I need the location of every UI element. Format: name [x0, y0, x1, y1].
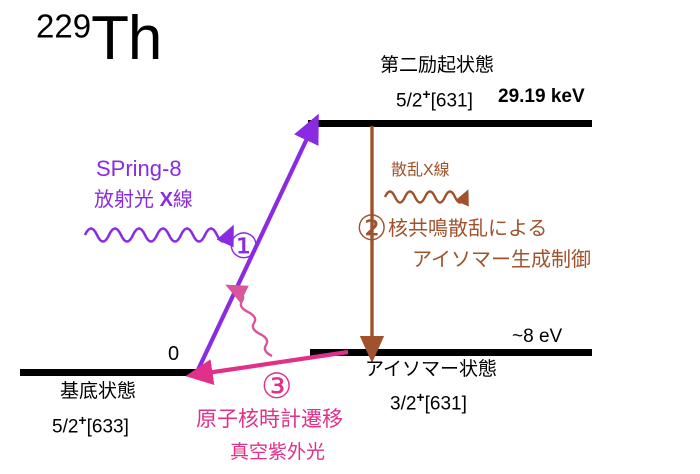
label-spring8-source: SPring-8	[96, 157, 182, 180]
label-scattered-xray: 散乱X線	[391, 163, 450, 180]
label-isomer-state-name: アイソマー状態	[365, 360, 497, 380]
parity-sign: +	[422, 86, 430, 102]
beam-label-suffix: 線	[173, 189, 193, 211]
isotope-mass-number: 229	[36, 7, 91, 44]
label-vuv-light-caption-line2: 真空紫外光	[230, 443, 325, 463]
energy-level-diagram: 229Th 第二励起状態 5/2+[631] 29.19 keV ~8 eV ア…	[0, 0, 700, 474]
step-number-3-circled: ③	[261, 370, 292, 405]
beam-label-x: X	[160, 189, 173, 211]
nilsson-label: [631]	[425, 393, 467, 414]
spin-value: 5/2	[396, 90, 422, 111]
label-second-excited-state-name: 第二励起状態	[380, 56, 494, 76]
nilsson-label: [633]	[87, 416, 129, 437]
step-number-1-circled: ①	[228, 230, 259, 265]
parity-sign: +	[416, 389, 424, 405]
label-clock-transition-caption-line1: 原子核時計遷移	[196, 409, 343, 431]
label-scattering-caption-line2: アイソマー生成制御	[412, 250, 591, 271]
wave-vuv-photon	[236, 290, 272, 356]
label-ground-state-name: 基底状態	[60, 382, 136, 402]
label-isomer-state-energy: ~8 eV	[512, 327, 562, 347]
wave-scattered-xray	[385, 192, 465, 203]
label-scattering-caption-line1: 核共鳴散乱による	[388, 219, 547, 240]
spin-value: 5/2	[52, 416, 78, 437]
label-ground-state-spin: 5/2+[633]	[52, 413, 129, 437]
label-isomer-state-spin: 3/2+[631]	[390, 390, 467, 414]
parity-sign: +	[78, 412, 86, 428]
label-second-excited-state-spin: 5/2+[631]	[396, 87, 473, 111]
isotope-label: 229Th	[36, 6, 161, 71]
label-synchrotron-xray: 放射光 X線	[94, 190, 193, 211]
isotope-element-symbol: Th	[91, 4, 161, 73]
nilsson-label: [631]	[431, 90, 473, 111]
beam-label-prefix: 放射光	[94, 189, 160, 211]
wave-incident-xray	[85, 229, 229, 242]
spin-value: 3/2	[390, 393, 416, 414]
step-number-2-circled: ②	[356, 212, 387, 247]
label-second-excited-state-energy: 29.19 keV	[498, 87, 585, 107]
label-ground-state-energy: 0	[168, 344, 179, 365]
